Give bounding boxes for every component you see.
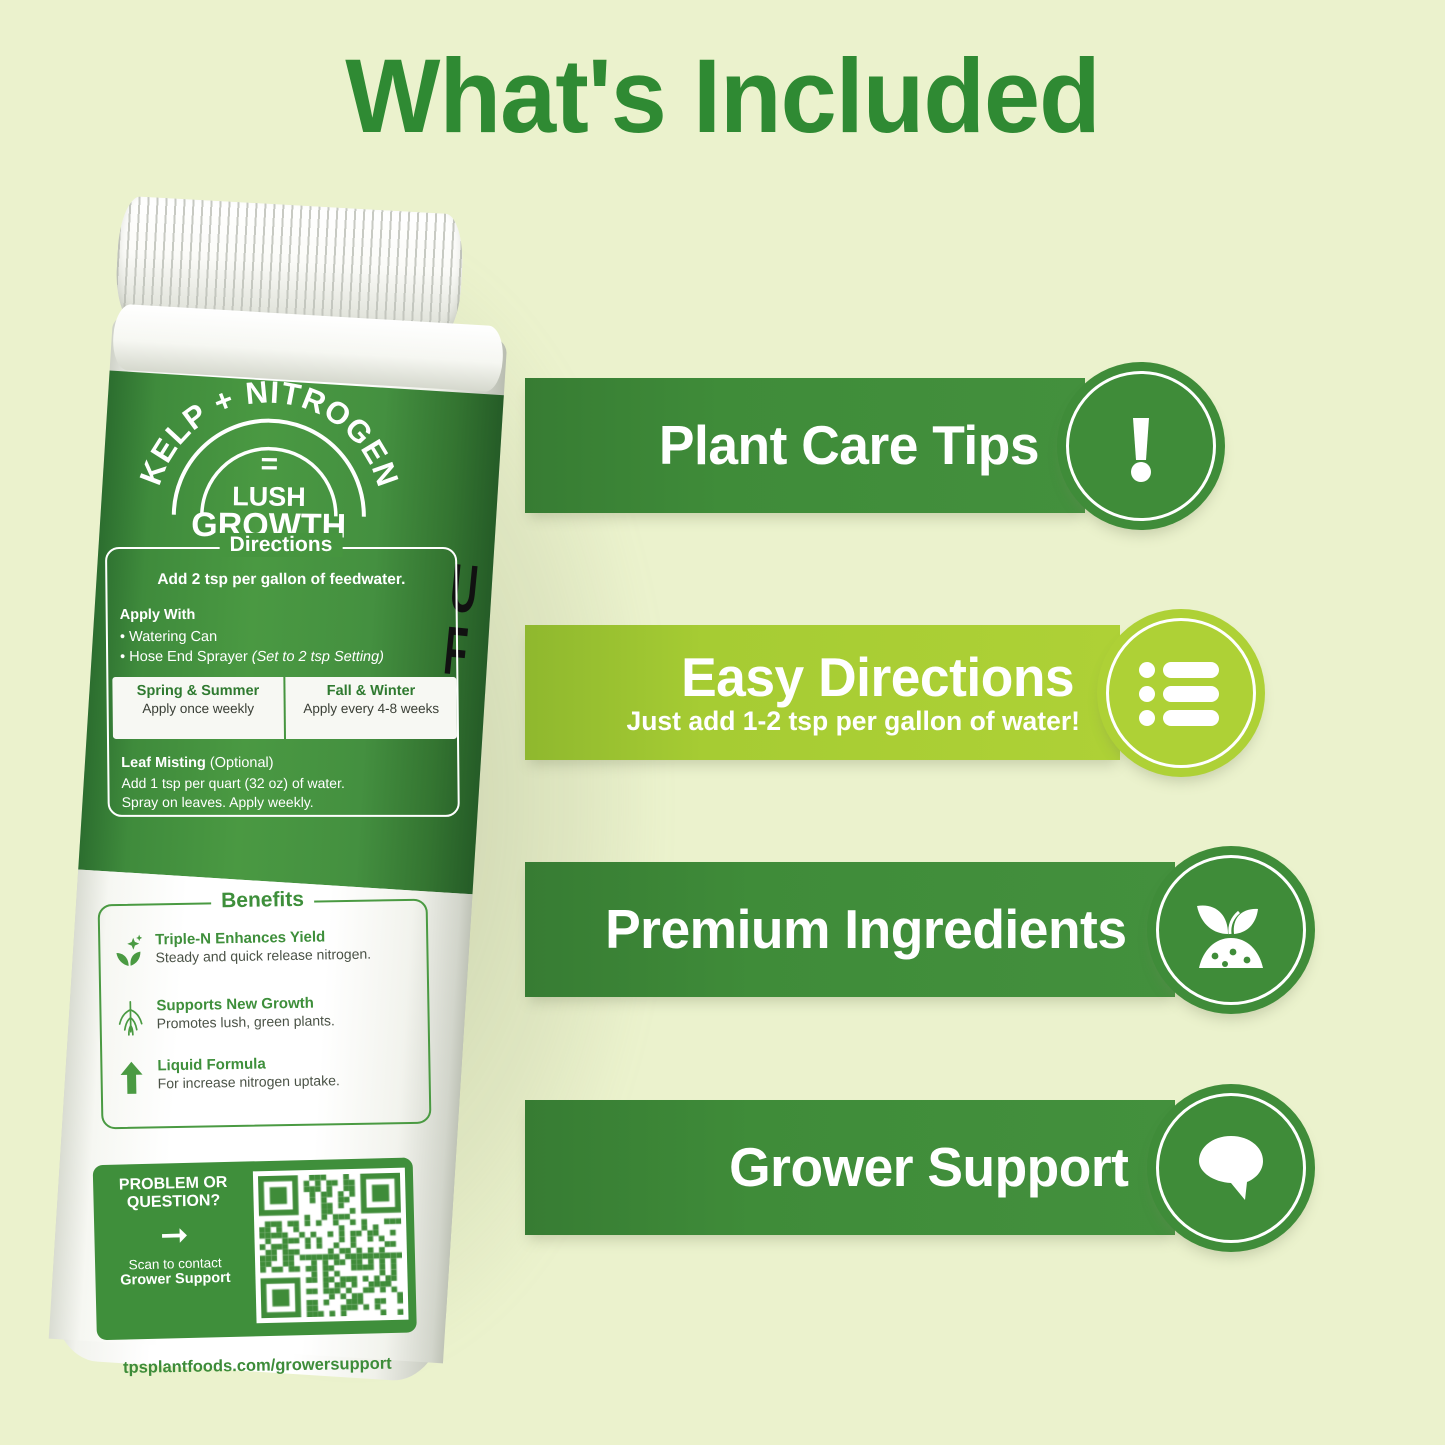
banner-bar: Plant Care Tips <box>525 378 1085 513</box>
hose-label: • Hose End Sprayer <box>120 649 252 665</box>
banner-title: Grower Support <box>730 1139 1129 1195</box>
season-schedule-table: Spring & Summer Apply once weekly Fall &… <box>112 677 457 739</box>
benefit-desc: For increase nitrogen uptake. <box>158 1072 340 1091</box>
banner-bar: Grower Support <box>525 1100 1175 1235</box>
banner-title: Plant Care Tips <box>659 417 1039 473</box>
banner-bar: Easy Directions Just add 1-2 tsp per gal… <box>525 625 1120 760</box>
feature-banner-plant-care-tips[interactable]: Plant Care Tips <box>525 378 1225 513</box>
banner-title: Premium Ingredients <box>605 901 1126 957</box>
season-name: Spring & Summer <box>112 683 283 699</box>
feature-banner-easy-directions[interactable]: Easy Directions Just add 1-2 tsp per gal… <box>525 625 1265 760</box>
roots-icon <box>113 998 148 1039</box>
exclamation-mark-icon <box>1057 362 1225 530</box>
benefit-item-0: Triple-N Enhances Yield Steady and quick… <box>112 927 423 972</box>
qr-headline-line-2: QUESTION? <box>103 1192 243 1214</box>
benefit-desc: Promotes lush, green plants. <box>157 1012 335 1031</box>
qr-code <box>253 1168 409 1324</box>
benefits-heading: Benefits <box>211 888 314 914</box>
qr-scan-line-2: Grower Support <box>105 1269 245 1288</box>
banner-bar: Premium Ingredients <box>525 862 1175 997</box>
banner-subtitle: Just add 1-2 tsp per gallon of water! <box>626 707 1080 736</box>
bottle-body: KELP + NITROGEN = LUSH GROWTH UF Directi… <box>47 311 507 1384</box>
directions-box: Directions Add 2 tsp per gallon of feedw… <box>105 547 460 817</box>
seedling-in-soil-icon <box>1147 846 1315 1014</box>
season-cell-fall-winter: Fall & Winter Apply every 4-8 weeks <box>283 677 457 739</box>
season-cell-spring-summer: Spring & Summer Apply once weekly <box>112 677 284 739</box>
benefit-title: Liquid Formula <box>157 1054 339 1074</box>
up-arrow-icon <box>114 1058 149 1099</box>
apply-with-item-1: • Hose End Sprayer (Set to 2 tsp Setting… <box>120 649 384 665</box>
feature-banner-grower-support[interactable]: Grower Support <box>525 1100 1315 1235</box>
logo-equals: = <box>260 448 278 481</box>
season-frequency: Apply once weekly <box>113 701 284 716</box>
speech-bubble-icon <box>1147 1084 1315 1252</box>
feature-banner-premium-ingredients[interactable]: Premium Ingredients <box>525 862 1315 997</box>
benefit-item-2: Liquid Formula For increase nitrogen upt… <box>114 1053 425 1098</box>
leaf-misting-line-1: Add 1 tsp per quart (32 oz) of water. <box>121 775 345 791</box>
directions-heading: Directions <box>219 533 342 557</box>
grower-support-qr-panel: PROBLEM OR QUESTION? ➞ Scan to contact G… <box>93 1157 417 1340</box>
season-name: Fall & Winter <box>285 683 456 699</box>
leaf-misting-label: Leaf Misting (Optional) <box>121 755 273 771</box>
leaves-sparkle-icon <box>112 932 147 973</box>
season-frequency: Apply every 4-8 weeks <box>286 701 457 716</box>
benefit-desc: Steady and quick release nitrogen. <box>155 946 371 966</box>
apply-with-label: Apply With <box>120 607 196 623</box>
bulleted-list-icon <box>1097 609 1265 777</box>
banner-title: Easy Directions <box>681 649 1074 705</box>
benefits-box: Benefits Triple-N Enhances Yield Steady … <box>98 899 432 1130</box>
leaf-misting-optional: (Optional) <box>206 755 274 771</box>
hose-note: (Set to 2 tsp Setting) <box>252 649 384 665</box>
right-arrow-icon: ➞ <box>104 1216 245 1253</box>
directions-dose: Add 2 tsp per gallon of feedwater. <box>107 571 455 589</box>
kelp-nitrogen-lush-growth-logo: KELP + NITROGEN = LUSH GROWTH <box>144 374 396 542</box>
leaf-misting-line-2: Spray on leaves. Apply weekly. <box>122 794 314 810</box>
benefit-item-1: Supports New Growth Promotes lush, green… <box>113 993 424 1038</box>
page-title: What's Included <box>29 42 1416 152</box>
apply-with-item-0: • Watering Can <box>120 629 217 645</box>
benefit-title: Supports New Growth <box>156 994 334 1014</box>
qr-panel-text: PROBLEM OR QUESTION? ➞ Scan to contact G… <box>103 1174 246 1289</box>
